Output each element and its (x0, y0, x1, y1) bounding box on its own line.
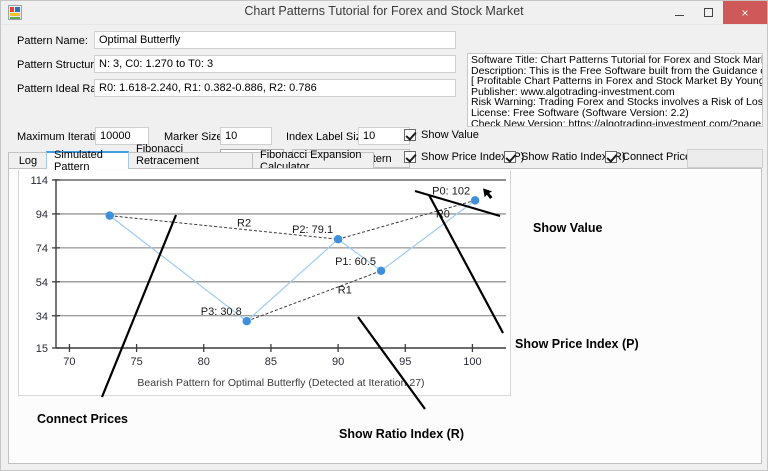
maximize-icon (704, 8, 713, 17)
pattern-name-input[interactable]: Optimal Butterfly (94, 31, 456, 49)
pattern-ideal-ratio-input[interactable]: R0: 1.618-2.240, R1: 0.382-0.886, R2: 0.… (94, 79, 456, 97)
x-tick-label: 95 (399, 356, 411, 368)
window-title: Chart Patterns Tutorial for Forex and St… (1, 4, 767, 18)
y-tick-label: 34 (36, 311, 48, 323)
checkbox-icon (404, 129, 416, 141)
x-tick-label: 90 (332, 356, 344, 368)
ratio-label-R0: R0 (436, 208, 450, 220)
minimize-button[interactable] (665, 1, 694, 24)
software-info-panel: Software Title: Chart Patterns Tutorial … (467, 53, 763, 127)
marker-size-label: Marker Size: (164, 131, 226, 143)
tab-bar: Log Simulated Pattern Fibonacci Retracem… (8, 151, 762, 169)
data-point-label-P1: P1: 60.5 (335, 256, 376, 268)
chart-caption: Bearish Pattern for Optimal Butterfly (D… (137, 377, 424, 389)
pattern-name-label: Pattern Name: (17, 35, 88, 47)
x-tick-label: 100 (463, 356, 481, 368)
index-label-size-input[interactable]: 10 (358, 127, 410, 145)
data-point-label-P2: P2: 79.1 (292, 224, 333, 236)
connect-prices-line (110, 200, 475, 321)
data-point-label-P0: P0: 102 (432, 185, 470, 197)
annotation-show-value: Show Value (533, 221, 602, 235)
annotation-show-ratio-index: Show Ratio Index (R) (339, 427, 464, 441)
info-line-license: License: Free Software (Software Version… (471, 108, 759, 119)
annotation-show-price-index: Show Price Index (P) (515, 337, 639, 351)
chart-panel[interactable]: 1534547494114707580859095100R2R1R0P3: 30… (18, 170, 511, 396)
y-tick-label: 114 (30, 175, 48, 187)
show-value-checkbox[interactable]: Show Value (404, 129, 479, 141)
title-bar: Chart Patterns Tutorial for Forex and St… (1, 1, 767, 25)
minimize-icon (675, 15, 684, 16)
tab-fibonacci-retracement-calculator[interactable]: Fibonacci Retracement Calculator (128, 152, 253, 169)
data-point-X[interactable] (106, 211, 114, 219)
simulated-pattern-panel: 1534547494114707580859095100R2R1R0P3: 30… (8, 168, 762, 464)
ratio-line-R0 (338, 200, 475, 239)
window-controls: × (665, 1, 767, 24)
x-tick-label: 75 (130, 356, 142, 368)
ratio-label-R1: R1 (338, 285, 352, 297)
info-line-title: Software Title: Chart Patterns Tutorial … (471, 55, 759, 66)
data-point-P0[interactable] (471, 196, 479, 204)
tab-log[interactable]: Log (8, 152, 48, 169)
data-point-P3[interactable] (243, 317, 251, 325)
tab-fibonacci-expansion-calculator[interactable]: Fibonacci Expansion Calculator (252, 152, 374, 169)
data-point-P1[interactable] (377, 267, 385, 275)
application-window: Chart Patterns Tutorial for Forex and St… (0, 0, 768, 471)
ratio-line-R1 (247, 271, 381, 321)
x-tick-label: 70 (63, 356, 75, 368)
data-point-P2[interactable] (334, 235, 342, 243)
info-line-version-url: Check New Version: https://algotrading-i… (471, 119, 759, 127)
pattern-structure-label: Pattern Structure: (17, 59, 103, 71)
show-value-checkbox-label: Show Value (421, 129, 479, 141)
pattern-structure-input[interactable]: N: 3, C0: 1.270 to T0: 3 (94, 55, 456, 73)
maximize-button[interactable] (694, 1, 723, 24)
pattern-form: Pattern Name: Optimal Butterfly Pattern … (1, 24, 768, 149)
y-tick-label: 15 (36, 343, 48, 355)
annotation-connect-prices: Connect Prices (37, 412, 128, 426)
close-button[interactable]: × (723, 1, 767, 24)
y-tick-label: 54 (36, 277, 48, 289)
pattern-chart[interactable]: 1534547494114707580859095100R2R1R0P3: 30… (19, 170, 510, 394)
data-point-label-P3: P3: 30.8 (201, 306, 242, 318)
y-tick-label: 74 (36, 243, 48, 255)
x-tick-label: 80 (198, 356, 210, 368)
x-tick-label: 85 (265, 356, 277, 368)
ratio-label-R2: R2 (237, 218, 251, 230)
y-tick-label: 94 (36, 209, 48, 221)
cursor-arrow-icon (483, 188, 492, 199)
tab-simulated-pattern[interactable]: Simulated Pattern (46, 151, 129, 169)
